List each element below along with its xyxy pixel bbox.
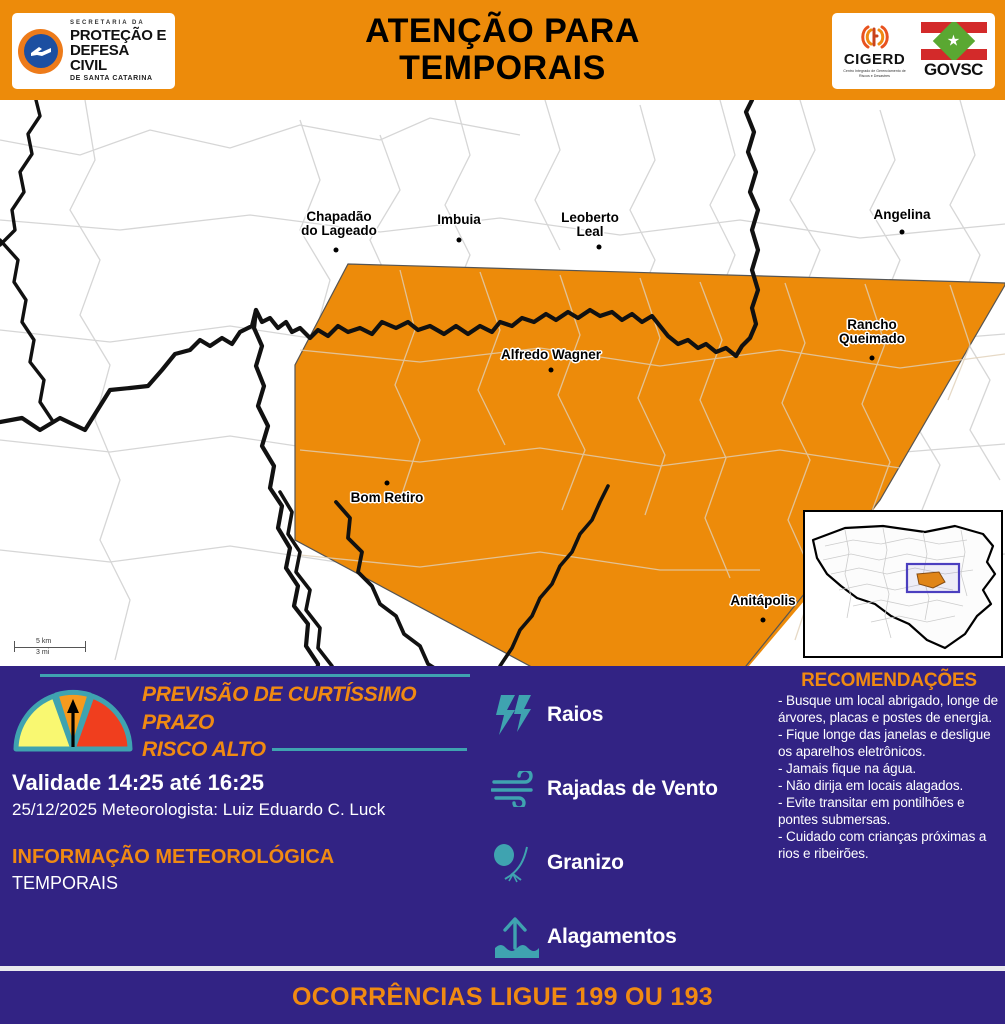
recommendation-item: - Evite transitar em pontilhões e pontes…	[778, 794, 1000, 828]
recommendation-item: - Cuidado com crianças próximas a rios e…	[778, 828, 1000, 862]
scale-km-label: 5 km	[36, 638, 51, 645]
city-dot	[334, 248, 339, 253]
alert-map[interactable]: Imbuia Leoberto Leal Angelina Chapadão d…	[0, 100, 1005, 666]
hazard-label: Rajadas de Vento	[547, 777, 718, 801]
info-panel: PREVISÃO DE CURTÍSSIMO PRAZO RISCO ALTO …	[0, 666, 1005, 966]
flood-icon	[485, 914, 547, 960]
inset-zoom-box	[907, 564, 959, 592]
city-dot	[870, 356, 875, 361]
city-label: Anitápolis	[730, 594, 795, 608]
alert-poster: ATENÇÃO PARA TEMPORAIS SECRETARIA DA PRO…	[0, 0, 1005, 1024]
risk-level-label: RISCO ALTO	[142, 738, 266, 762]
city-dot	[457, 238, 462, 243]
city-label: Bom Retiro	[351, 491, 424, 505]
recommendations-title: RECOMENDAÇÕES	[778, 670, 1000, 692]
hazard-item-rajadas-de-vento: Rajadas de Vento	[485, 752, 775, 826]
meteorologist-text: 25/12/2025 Meteorologista: Luiz Eduardo …	[12, 800, 467, 820]
lightning-icon	[485, 692, 547, 738]
defesa-civil-emblem-icon	[18, 29, 63, 74]
city-dot	[385, 481, 390, 486]
meteorological-info-heading: INFORMAÇÃO METEOROLÓGICA	[12, 846, 467, 869]
recommendation-item: - Fique longe das janelas e desligue os …	[778, 726, 1000, 760]
forecast-label: PREVISÃO DE CURTÍSSIMO PRAZO	[142, 681, 467, 738]
city-dot	[900, 230, 905, 235]
recommendation-item: - Não dirija em locais alagados.	[778, 777, 1000, 794]
footer-banner: OCORRÊNCIAS LIGUE 199 OU 193	[0, 971, 1005, 1024]
locator-inset-vector	[805, 512, 1001, 656]
city-label: Angelina	[873, 208, 930, 222]
cigerd-name: CIGERD	[844, 51, 905, 68]
recommendation-item: - Jamais fique na água.	[778, 760, 1000, 777]
wind-icon	[485, 771, 547, 807]
title-line-2: TEMPORAIS	[365, 50, 640, 87]
govsc-prefix: GOV	[924, 60, 960, 79]
logo-line-defesa-civil: DEFESA CIVIL	[70, 43, 169, 73]
recommendations-block: RECOMENDAÇÕES - Busque um local abrigado…	[778, 670, 1000, 862]
cigerd-mark-icon	[854, 23, 896, 51]
city-dot	[549, 368, 554, 373]
cigerd-subtitle: Centro Integrado de Gerenciamento de Ris…	[838, 69, 912, 79]
header-banner: ATENÇÃO PARA TEMPORAIS SECRETARIA DA PRO…	[0, 0, 1005, 100]
govsc-suffix: SC	[960, 60, 983, 79]
hands-icon	[29, 43, 53, 59]
forecast-summary: PREVISÃO DE CURTÍSSIMO PRAZO RISCO ALTO …	[12, 674, 467, 894]
risk-gauge-icon	[12, 687, 134, 753]
logo-line-santa-catarina: DE SANTA CATARINA	[70, 75, 169, 82]
city-label: Alfredo Wagner	[501, 348, 601, 362]
defesa-civil-logo: SECRETARIA DA PROTEÇÃO E DEFESA CIVIL DE…	[12, 13, 175, 89]
govsc-logo: ★ GOVSC	[918, 22, 990, 80]
page-title: ATENÇÃO PARA TEMPORAIS	[365, 13, 640, 86]
title-line-1: ATENÇÃO PARA	[365, 13, 640, 50]
city-label: Leoberto Leal	[561, 211, 619, 239]
govsc-wordmark: GOVSC	[924, 60, 983, 80]
hazard-item-raios: Raios	[485, 678, 775, 752]
city-dot	[597, 245, 602, 250]
logo-line-protecao: PROTEÇÃO E	[70, 28, 169, 43]
cigerd-logo: CIGERD Centro Integrado de Gerenciamento…	[838, 23, 912, 79]
santa-catarina-flag-icon: ★	[921, 22, 987, 60]
hazard-label: Raios	[547, 703, 603, 727]
hazard-item-granizo: Granizo	[485, 826, 775, 900]
hazard-item-alagamentos: Alagamentos	[485, 900, 775, 974]
divider-bottom	[272, 748, 467, 751]
emergency-phone-text: OCORRÊNCIAS LIGUE 199 OU 193	[292, 983, 713, 1012]
hazard-label: Granizo	[547, 851, 624, 875]
meteorological-info-body: TEMPORAIS	[12, 873, 467, 894]
scale-mi-label: 3 mi	[36, 649, 49, 656]
divider-top	[40, 674, 470, 677]
hazard-list: Raios Rajadas de Vento	[485, 678, 775, 974]
logo-line-secretaria: SECRETARIA DA	[70, 20, 169, 26]
city-label: Chapadão do Lageado	[301, 210, 377, 238]
map-scale-bar: 5 km 3 mi	[14, 641, 86, 652]
city-dot	[761, 618, 766, 623]
validity-text: Validade 14:25 até 16:25	[12, 770, 467, 796]
hazard-label: Alagamentos	[547, 925, 677, 949]
locator-inset-map[interactable]	[803, 510, 1003, 658]
city-label: Rancho Queimado	[839, 318, 905, 346]
recommendation-item: - Busque um local abrigado, longe de árv…	[778, 692, 1000, 726]
partner-logos: CIGERD Centro Integrado de Gerenciamento…	[832, 13, 995, 89]
hail-icon	[485, 841, 547, 885]
city-label: Imbuia	[437, 213, 481, 227]
